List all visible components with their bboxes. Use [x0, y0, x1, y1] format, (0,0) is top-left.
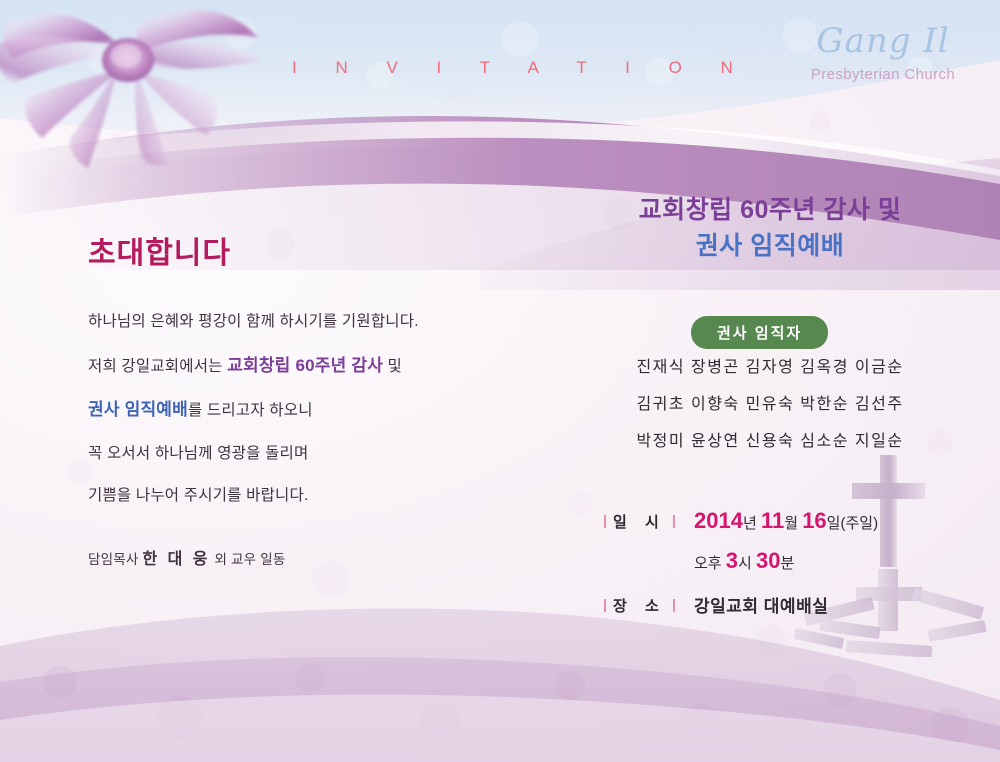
- date-year: 2014: [694, 508, 743, 533]
- date-day: 16: [802, 508, 826, 533]
- invitation-wordmark: I N V I T A T I O N: [292, 58, 750, 78]
- date-day-suffix: 일(주일): [827, 515, 878, 532]
- message-line-2-suffix: 및: [383, 358, 402, 375]
- time-hour: 3: [726, 548, 738, 573]
- name-row: 진재식 장병곤 김자영 김옥경 이금순: [560, 360, 980, 376]
- time-value: 오후 3시 30분: [694, 548, 984, 574]
- date-row: 일 시 2014년 11월 16일(주일): [604, 508, 984, 534]
- message-line-2-prefix: 저희 강일교회에서는: [88, 358, 227, 375]
- date-month: 11: [761, 508, 784, 533]
- place-label-group: 장 소: [604, 595, 682, 616]
- message-line-3-highlight: 권사 임직예배: [88, 400, 188, 419]
- signature-line: 담임목사 한 대 웅 외 교우 일동: [88, 545, 285, 569]
- message-line-1: 하나님의 은혜와 평강이 함께 하시기를 기원합니다.: [88, 314, 508, 330]
- tick-mark-icon: [604, 599, 606, 612]
- message-line-5: 기쁨을 나누어 주시기를 바랍니다.: [88, 488, 508, 504]
- signature-prefix: 담임목사: [88, 552, 142, 567]
- ordinands-badge: 권사 임직자: [691, 316, 828, 349]
- ribbon-bow-illustration: [0, 0, 262, 176]
- event-title-line-2: 권사 임직예배: [560, 228, 980, 264]
- message-line-2: 저희 강일교회에서는 교회창립 60주년 감사 및: [88, 357, 508, 375]
- tick-mark-icon: [673, 599, 675, 612]
- date-value: 2014년 11월 16일(주일): [694, 508, 878, 534]
- church-logo: Gang Il Presbyterian Church: [788, 24, 978, 83]
- message-line-3: 권사 임직예배를 드리고자 하오니: [88, 401, 508, 419]
- place-row: 장 소 강일교회 대예배실: [604, 592, 984, 617]
- event-title: 교회창립 60주년 감사 및 권사 임직예배: [560, 192, 980, 265]
- logo-subtitle-text: Presbyterian Church: [788, 66, 978, 83]
- event-title-line-1: 교회창립 60주년 감사 및: [560, 192, 980, 228]
- tick-mark-icon: [604, 515, 606, 528]
- left-message-column: 초대합니다 하나님의 은혜와 평강이 함께 하시기를 기원합니다. 저희 강일교…: [88, 228, 508, 531]
- time-minute: 30: [756, 548, 780, 573]
- date-label-group: 일 시: [604, 511, 682, 532]
- tick-mark-icon: [673, 515, 675, 528]
- signature-suffix: 외 교우 일동: [211, 552, 286, 567]
- place-value: 강일교회 대예배실: [694, 592, 828, 617]
- message-line-4: 꼭 오서서 하나님께 영광을 돌리며: [88, 446, 508, 462]
- message-line-3-suffix: 를 드리고자 하오니: [188, 402, 313, 419]
- date-year-suffix: 년: [743, 515, 757, 532]
- event-details: 일 시 2014년 11월 16일(주일) 오후 3시 30분 장 소 강일교회…: [604, 508, 984, 631]
- invitation-heading: 초대합니다: [88, 228, 508, 272]
- logo-name-text: Gang Il: [788, 24, 978, 58]
- message-line-2-highlight: 교회창립 60주년 감사: [227, 356, 383, 375]
- time-hour-suffix: 시: [738, 555, 756, 572]
- time-minute-suffix: 분: [780, 555, 794, 572]
- ordinands-name-list: 진재식 장병곤 김자영 김옥경 이금순 김귀초 이향숙 민유숙 박한순 김선주 …: [560, 360, 980, 471]
- name-row: 박정미 윤상연 신용숙 심소순 지일순: [560, 434, 980, 450]
- date-month-suffix: 월: [784, 515, 798, 532]
- invitation-card: I N V I T A T I O N Gang Il Presbyterian…: [0, 0, 1000, 762]
- place-label: 장 소: [613, 595, 666, 616]
- time-ampm: 오후: [694, 555, 726, 572]
- name-row: 김귀초 이향숙 민유숙 박한순 김선주: [560, 397, 980, 413]
- date-label: 일 시: [613, 511, 666, 532]
- signature-name: 한 대 웅: [142, 551, 210, 568]
